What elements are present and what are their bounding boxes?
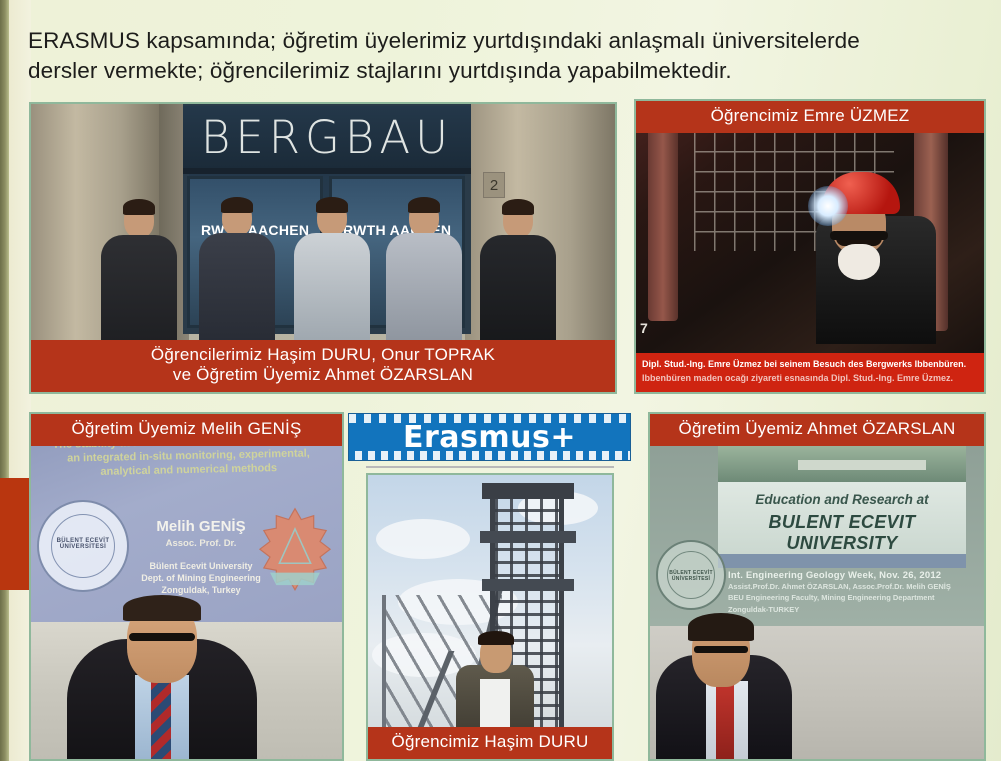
photo-genis-presentation: Wroclaw, Poland, November 26-30, 2012 Th… <box>31 414 342 759</box>
erasmus-plus-logo: Erasmus+ <box>348 413 631 461</box>
projected-university-name: BULENT ECEVIT UNIVERSITY <box>718 512 966 554</box>
house-number-plate: 2 <box>483 172 505 198</box>
caption-line-1: Öğrencimiz Haşim DURU <box>372 732 608 753</box>
university-seal-icon: BÜLENT ECEVİT ÜNİVERSİTESİ <box>37 500 129 592</box>
speaker-photo-area <box>31 622 342 759</box>
headframe-cap <box>482 483 574 499</box>
projected-event-info: Int. Engineering Geology Week, Nov. 26, … <box>728 570 968 615</box>
heading-line-2: dersler vermekte; öğrencilerimiz stajlar… <box>28 56 978 86</box>
erasmus-wordmark: Erasmus+ <box>403 420 576 455</box>
person-figure <box>479 202 557 352</box>
projected-subtitle: Education and Research at <box>718 492 966 507</box>
caption-uzmez-description: Dipl. Stud.-Ing. Emre Üzmez bei seinem B… <box>636 353 984 392</box>
caption-ozarslan: Öğretim Üyemiz Ahmet ÖZARSLAN <box>650 414 984 446</box>
projected-presenter-role: Assoc. Prof. Dr. <box>131 538 271 549</box>
speaker-tie <box>716 685 734 759</box>
caption-duru: Öğrencimiz Haşim DURU <box>368 727 612 759</box>
sign-divider <box>183 168 471 174</box>
photo-underground-mine: 7 <box>636 101 984 392</box>
projected-department: BEU Engineering Faculty, Mining Engineer… <box>728 592 968 603</box>
seal-label: BÜLENT ECEVİT ÜNİVERSİTESİ <box>39 538 127 550</box>
person-figure <box>385 200 463 346</box>
projected-event-name: Int. Engineering Geology Week, Nov. 26, … <box>728 570 968 581</box>
projected-title-card: Education and Research at BULENT ECEVIT … <box>718 482 966 554</box>
bergbau-sign-text: BERGBAU <box>183 106 471 168</box>
projected-city: Zonguldak-TURKEY <box>728 604 968 615</box>
person-figure <box>101 202 177 352</box>
caption-line-1: Öğretim Üyemiz Melih GENİŞ <box>35 419 338 440</box>
caption-line-1: Öğrencimiz Emre ÜZMEZ <box>640 106 980 127</box>
person-figure <box>199 200 275 348</box>
headframe-deck <box>482 579 574 591</box>
photo-corner-number: 7 <box>640 320 648 336</box>
speaker-tie <box>151 679 171 759</box>
caption-line-1: Öğretim Üyemiz Ahmet ÖZARSLAN <box>654 419 980 440</box>
seal-label: BÜLENT ECEVİT ÜNİVERSİTESİ <box>658 570 724 582</box>
caption-german-line: Dipl. Stud.-Ing. Emre Üzmez bei seinem B… <box>642 358 978 372</box>
projected-presenter-name: Melih GENİŞ <box>131 518 271 535</box>
headframe-deck <box>480 531 576 543</box>
photo-mine-headframe <box>368 475 612 759</box>
student-shirt <box>480 679 510 731</box>
mine-support-pillar-left <box>648 121 678 321</box>
speaker-glasses <box>129 633 195 641</box>
logo-underline-rule <box>366 466 614 468</box>
photo-panel-genis[interactable]: Wroclaw, Poland, November 26-30, 2012 Th… <box>29 412 344 761</box>
speaker-hair <box>688 613 754 641</box>
left-edge-strip <box>0 0 9 761</box>
projection-screen: Education and Research at BULENT ECEVIT … <box>650 414 984 626</box>
speaker-photo-area <box>650 626 984 759</box>
projected-authors: Assist.Prof.Dr. Ahmet ÖZARSLAN, Assoc.Pr… <box>728 581 968 592</box>
safety-glasses <box>830 231 888 240</box>
photo-panel-ozarslan[interactable]: Education and Research at BULENT ECEVIT … <box>648 412 986 761</box>
dust-mask <box>838 244 880 280</box>
photo-panel-group[interactable]: BERGBAU RWTH AACHEN RWTH AACHEN 2 Öğrenc… <box>29 102 617 394</box>
heading-line-1: ERASMUS kapsamında; öğretim üyelerimiz y… <box>28 26 978 56</box>
student-figure <box>456 635 534 731</box>
speaker-glasses <box>694 646 748 653</box>
caption-uzmez-title: Öğrencimiz Emre ÜZMEZ <box>636 101 984 133</box>
photo-panel-duru[interactable]: Öğrencimiz Haşim DURU <box>366 473 614 761</box>
photo-ozarslan-presentation: Education and Research at BULENT ECEVIT … <box>650 414 984 759</box>
projected-bridge-shape <box>798 460 926 470</box>
caption-line-1: Öğrencilerimiz Haşim DURU, Onur TOPRAK <box>35 345 611 366</box>
caption-turkish-line: Ibbenbüren maden ocağı ziyareti esnasınd… <box>642 372 978 386</box>
page-title: ERASMUS kapsamında; öğretim üyelerimiz y… <box>28 26 978 86</box>
speaker-hair <box>123 595 201 621</box>
photo-panel-uzmez[interactable]: 7 Öğrencimiz Emre ÜZMEZ Dipl. Stud.-Ing.… <box>634 99 986 394</box>
star-emblem-icon <box>256 506 334 594</box>
headlamp-glow <box>808 186 848 226</box>
caption-line-2: ve Öğretim Üyemiz Ahmet ÖZARSLAN <box>35 365 611 386</box>
left-cream-band <box>9 0 31 761</box>
caption-group-photo: Öğrencilerimiz Haşim DURU, Onur TOPRAK v… <box>31 340 615 392</box>
person-figure <box>293 200 371 346</box>
student-hair <box>478 631 514 645</box>
caption-genis: Öğretim Üyemiz Melih GENİŞ <box>31 414 342 446</box>
university-seal-icon: BÜLENT ECEVİT ÜNİVERSİTESİ <box>656 540 726 610</box>
projected-divider-band <box>718 554 966 568</box>
cloud <box>376 519 470 559</box>
